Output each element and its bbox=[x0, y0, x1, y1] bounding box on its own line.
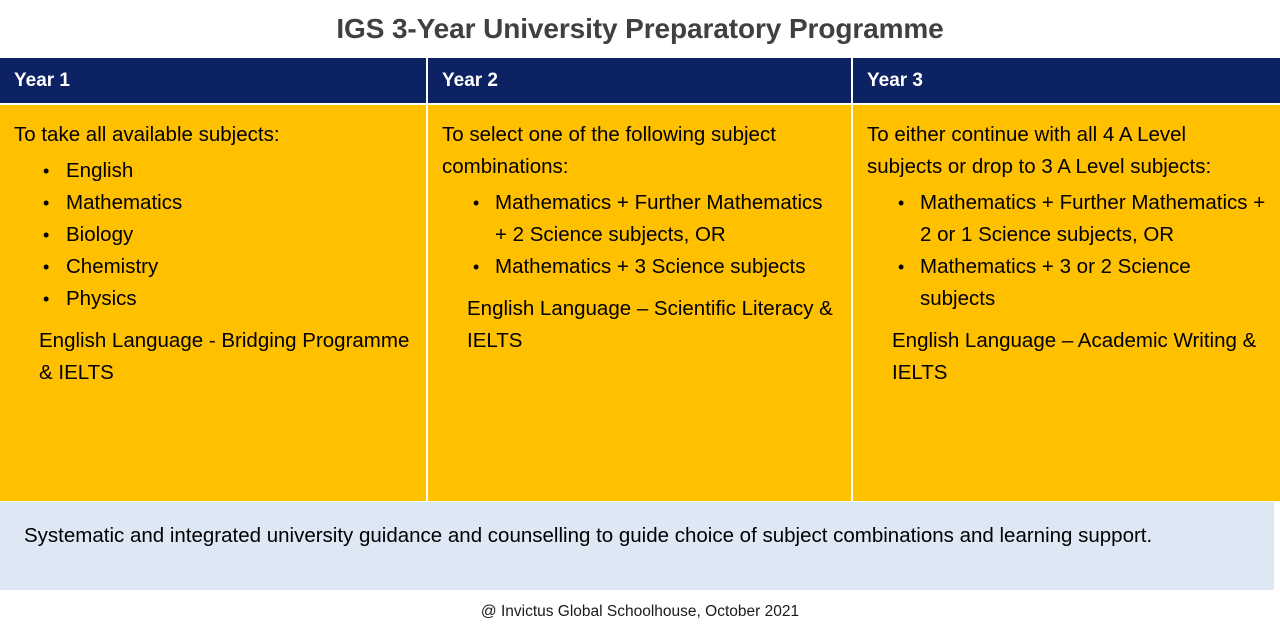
column-body-year-2: To select one of the following subject c… bbox=[428, 105, 851, 501]
column-header-label: Year 1 bbox=[14, 70, 70, 92]
column-body-year-3: To either continue with all 4 A Level su… bbox=[853, 105, 1280, 501]
list-item: Mathematics + Further Mathematics + 2 Sc… bbox=[442, 187, 837, 251]
slide-root: IGS 3-Year University Preparatory Progra… bbox=[0, 0, 1280, 639]
column-tail-text: English Language - Bridging Programme & … bbox=[14, 325, 412, 389]
subject-list-year-3: Mathematics + Further Mathematics + 2 or… bbox=[867, 187, 1266, 315]
column-intro-text: To take all available subjects: bbox=[14, 119, 412, 151]
table-body-row: To take all available subjects: English … bbox=[0, 105, 1280, 501]
column-body-year-1: To take all available subjects: English … bbox=[0, 105, 426, 501]
column-intro-text: To either continue with all 4 A Level su… bbox=[867, 119, 1266, 183]
list-item: Mathematics + 3 Science subjects bbox=[442, 251, 837, 283]
table-header-row: Year 1 Year 2 Year 3 bbox=[0, 58, 1280, 103]
list-item: Mathematics bbox=[14, 187, 412, 219]
list-item: Biology bbox=[14, 219, 412, 251]
guidance-note-banner: Systematic and integrated university gui… bbox=[0, 502, 1274, 590]
footer-credit: @ Invictus Global Schoolhouse, October 2… bbox=[0, 601, 1280, 623]
column-tail-text: English Language – Scientific Literacy &… bbox=[442, 293, 837, 357]
list-item: English bbox=[14, 155, 412, 187]
page-title: IGS 3-Year University Preparatory Progra… bbox=[0, 12, 1280, 46]
column-header-year-1: Year 1 bbox=[0, 58, 426, 103]
subject-list-year-2: Mathematics + Further Mathematics + 2 Sc… bbox=[442, 187, 837, 283]
list-item: Mathematics + 3 or 2 Science subjects bbox=[867, 251, 1266, 315]
column-intro-text: To select one of the following subject c… bbox=[442, 119, 837, 183]
column-tail-text: English Language – Academic Writing & IE… bbox=[867, 325, 1266, 389]
column-header-label: Year 2 bbox=[442, 70, 498, 92]
list-item: Physics bbox=[14, 283, 412, 315]
list-item: Mathematics + Further Mathematics + 2 or… bbox=[867, 187, 1266, 251]
column-header-year-2: Year 2 bbox=[428, 58, 851, 103]
column-header-year-3: Year 3 bbox=[853, 58, 1280, 103]
column-header-label: Year 3 bbox=[867, 70, 923, 92]
subject-list-year-1: English Mathematics Biology Chemistry Ph… bbox=[14, 155, 412, 315]
list-item: Chemistry bbox=[14, 251, 412, 283]
programme-table: Year 1 Year 2 Year 3 To take all availab… bbox=[0, 58, 1280, 501]
guidance-note-text: Systematic and integrated university gui… bbox=[24, 520, 1250, 552]
